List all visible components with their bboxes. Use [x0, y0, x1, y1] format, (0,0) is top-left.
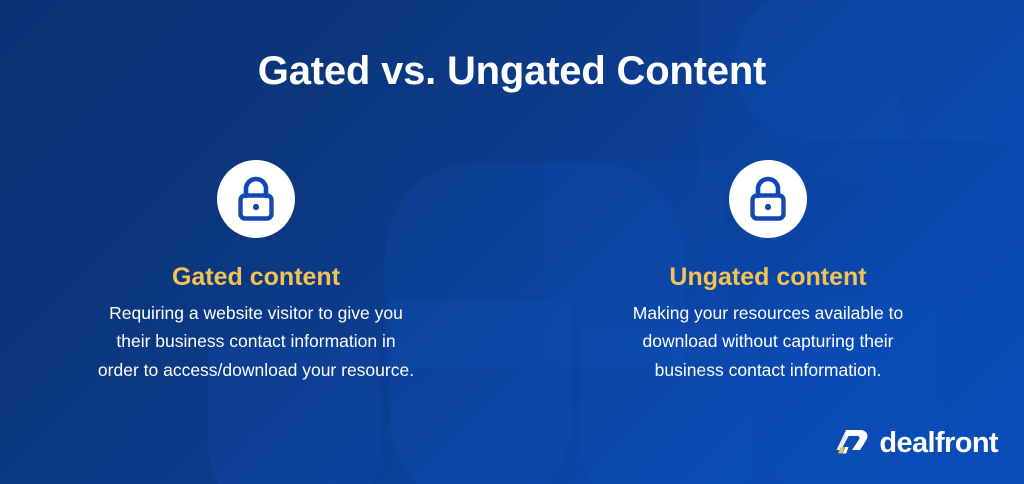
infographic-canvas: Gated vs. Ungated Content Gated content … — [0, 0, 1024, 484]
column-gated: Gated content Requiring a website visito… — [0, 160, 512, 384]
page-title: Gated vs. Ungated Content — [0, 48, 1024, 94]
column-body-gated: Requiring a website visitor to give you … — [46, 299, 466, 384]
body-line: order to access/download your resource. — [46, 356, 466, 384]
content-columns: Gated content Requiring a website visito… — [0, 160, 1024, 384]
body-line: their business contact information in — [46, 327, 466, 355]
column-heading-gated: Gated content — [172, 262, 340, 292]
column-body-ungated: Making your resources available to downl… — [558, 299, 978, 384]
body-line: Making your resources available to — [558, 299, 978, 327]
open-padlock-icon — [729, 160, 807, 238]
body-line: download without capturing their — [558, 327, 978, 355]
body-line: Requiring a website visitor to give you — [46, 299, 466, 327]
closed-padlock-icon — [217, 160, 295, 238]
dealfront-wordmark: dealfront — [879, 429, 998, 458]
body-line: business contact information. — [558, 356, 978, 384]
dealfront-arrow-icon — [836, 428, 870, 458]
dealfront-logo: dealfront — [836, 428, 998, 458]
column-heading-ungated: Ungated content — [669, 262, 866, 292]
column-ungated: Ungated content Making your resources av… — [512, 160, 1024, 384]
